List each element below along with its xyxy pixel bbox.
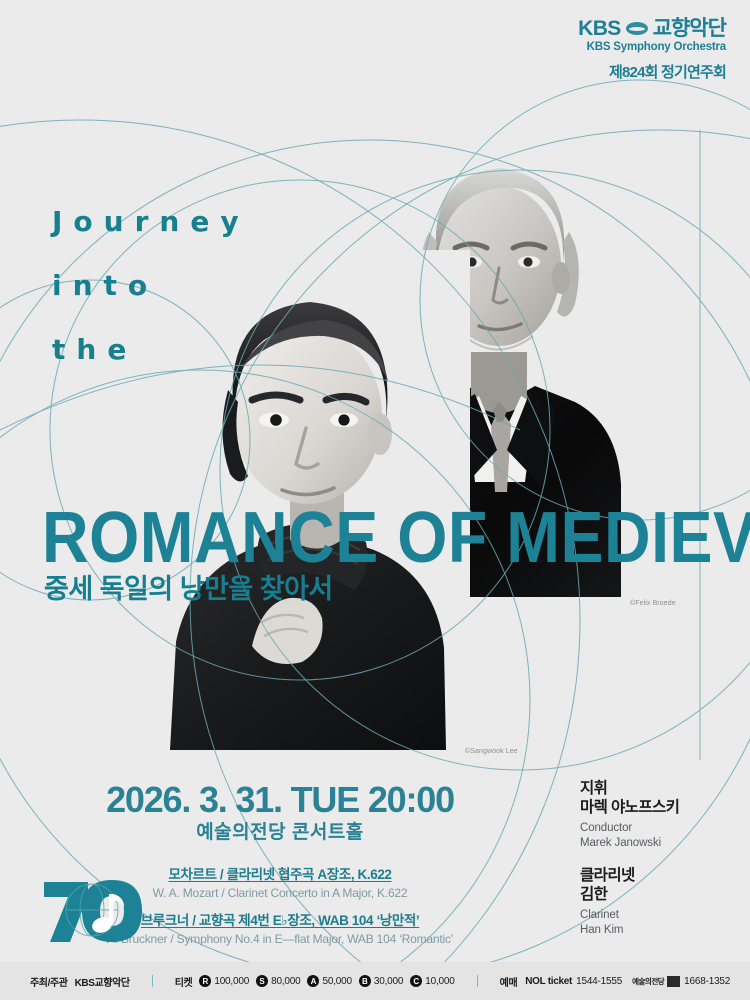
concert-date: 2026. 3. 31. TUE 20:00 [0, 782, 560, 818]
concert-series-number: 제824회 정기연주회 [578, 61, 726, 82]
journey-line-3: the [52, 318, 250, 382]
grade-badge-c: C [410, 975, 422, 987]
journey-line-2: into [52, 254, 250, 318]
footer-divider [152, 975, 153, 987]
booking-label: 예매 [500, 974, 518, 989]
kbs-english-name: KBS Symphony Orchestra [578, 41, 726, 53]
conductor-photo-credit: ©Felix Broede [630, 600, 676, 607]
artist-conductor: 지휘 마렉 야노프스키 Conductor Marek Janowski [580, 780, 679, 850]
artist-name-english: Marek Janowski [580, 836, 679, 851]
nol-ticket-label[interactable]: NOL ticket [525, 976, 572, 987]
kbs-logo-block: KBS 교향악단 KBS Symphony Orchestra 제824회 정기… [578, 18, 726, 82]
ticket-label: 티켓 [175, 974, 193, 989]
poster-footer: 주최/주관 KBS교향악단 티켓 R 100,000 S 80,000 A 50… [0, 962, 750, 1000]
footer-divider [477, 975, 478, 987]
artist-name-korean: 마렉 야노프스키 [580, 799, 679, 818]
price-amount-b: 30,000 [374, 976, 403, 987]
sac-logo-icon [667, 976, 680, 987]
price-item-s: S 80,000 [256, 975, 300, 987]
poster-subtitle-korean: 중세 독일의 낭만을 찾아서 [44, 576, 333, 603]
artist-role-english: Clarinet [580, 908, 679, 923]
journey-heading: Journey into the [52, 190, 250, 382]
footer-booking: 예매 NOL ticket 1544-1555 예술의전당 1668-1352 [500, 974, 731, 989]
grade-badge-a: A [307, 975, 319, 987]
price-item-b: B 30,000 [359, 975, 403, 987]
clarinetist-photo-credit: ©Sangwook Lee [465, 748, 518, 755]
grade-badge-b: B [359, 975, 371, 987]
artist-name-english: Han Kim [580, 923, 679, 938]
journey-line-1: Journey [52, 190, 250, 254]
kbs-logo-row: KBS 교향악단 [578, 18, 726, 39]
artist-name-korean: 김한 [580, 886, 679, 905]
price-amount-c: 10,000 [425, 976, 454, 987]
concert-venue: 예술의전당 콘서트홀 [0, 823, 560, 842]
price-item-a: A 50,000 [307, 975, 351, 987]
sac-label: 예술의전당 [632, 976, 664, 987]
host-label: 주최/주관 [30, 974, 68, 989]
kbs-oval-icon [626, 22, 648, 35]
kbs-korean-name: 교향악단 [653, 18, 726, 39]
artist-clarinet: 클라리넷 김한 Clarinet Han Kim [580, 867, 679, 937]
sac-phone[interactable]: 1668-1352 [684, 976, 730, 987]
footer-ticket-prices: 티켓 R 100,000 S 80,000 A 50,000 B 30,000 … [175, 974, 455, 989]
price-item-r: R 100,000 [199, 975, 249, 987]
anniversary-70-logo [40, 876, 144, 951]
price-amount-s: 80,000 [271, 976, 300, 987]
artist-credits: 지휘 마렉 야노프스키 Conductor Marek Janowski 클라리… [580, 780, 679, 955]
grade-badge-r: R [199, 975, 211, 987]
kbs-wordmark: KBS [578, 18, 621, 39]
price-item-c: C 10,000 [410, 975, 454, 987]
grade-badge-s: S [256, 975, 268, 987]
host-value: KBS교향악단 [75, 974, 130, 989]
price-amount-r: 100,000 [214, 976, 249, 987]
poster-main-title: ROMANCE OF MEDIEVAL GERMANY [42, 503, 749, 575]
footer-host: 주최/주관 KBS교향악단 [30, 974, 130, 989]
nol-ticket-phone[interactable]: 1544-1555 [576, 976, 622, 987]
artist-role-korean: 클라리넷 [580, 867, 679, 886]
price-amount-a: 50,000 [322, 976, 351, 987]
concert-poster: ©Felix Broede ©Sangwook Lee KBS 교향악단 KBS… [0, 0, 750, 1000]
artist-role-english: Conductor [580, 821, 679, 836]
artist-role-korean: 지휘 [580, 780, 679, 799]
